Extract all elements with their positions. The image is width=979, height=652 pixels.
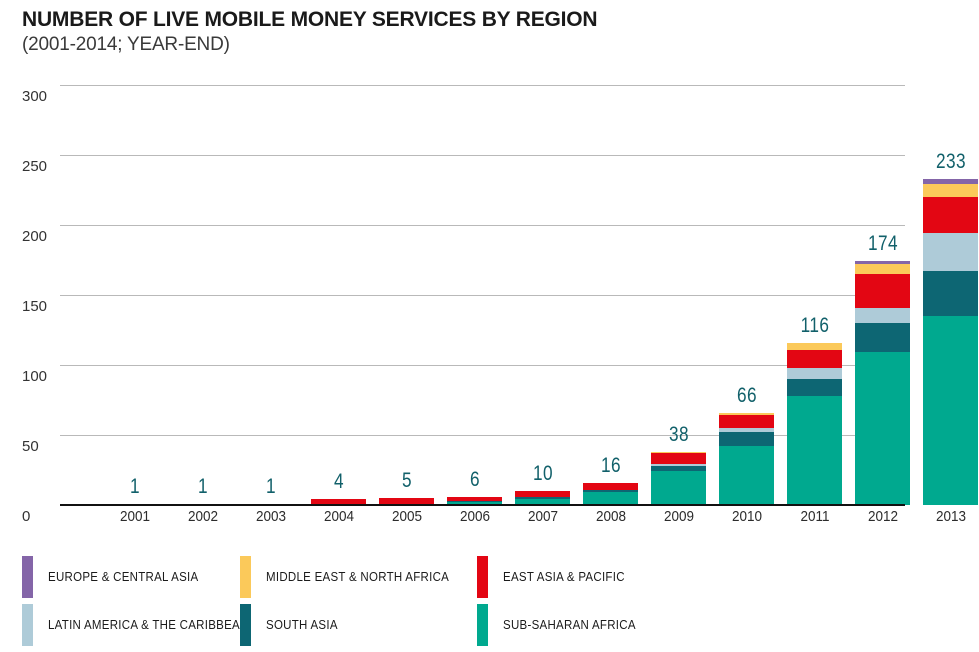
legend-item[interactable]: SOUTH ASIA — [240, 604, 344, 646]
legend-swatch — [22, 604, 33, 646]
y-axis-tick-label: 250 — [22, 158, 47, 175]
bar-2012[interactable] — [855, 261, 910, 505]
gridline — [60, 155, 905, 156]
bar-segment[interactable] — [719, 415, 774, 428]
bar-segment[interactable] — [923, 316, 978, 505]
bar-value-label: 174 — [854, 232, 911, 256]
y-axis-tick-label: 50 — [22, 438, 39, 455]
chart-header: NUMBER OF LIVE MOBILE MONEY SERVICES BY … — [22, 8, 962, 57]
legend-swatch — [22, 556, 33, 598]
x-axis-labels: 2001200220032004200520062007200820092010… — [60, 508, 905, 532]
bar-segment[interactable] — [651, 453, 706, 464]
bar-segment[interactable] — [855, 352, 910, 505]
bar-segment[interactable] — [787, 379, 842, 396]
bar-segment[interactable] — [855, 323, 910, 352]
bar-segment[interactable] — [855, 308, 910, 323]
x-axis-tick-label: 2005 — [375, 508, 438, 525]
bar-2010[interactable] — [719, 413, 774, 505]
bar-segment[interactable] — [719, 446, 774, 505]
legend-label: EUROPE & CENTRAL ASIA — [48, 570, 198, 584]
bar-segment[interactable] — [787, 350, 842, 368]
bar-value-label: 16 — [582, 454, 639, 478]
legend-swatch — [240, 604, 251, 646]
y-axis-labels: 050100150200250300 — [0, 85, 60, 505]
x-axis-tick-label: 2006 — [443, 508, 506, 525]
x-axis-tick-label: 2009 — [647, 508, 710, 525]
x-axis-tick-label: 2010 — [715, 508, 778, 525]
bar-segment[interactable] — [787, 396, 842, 505]
gridline — [60, 85, 905, 86]
legend-label: SUB-SAHARAN AFRICA — [503, 618, 636, 632]
bar-value-label: 1 — [174, 475, 231, 499]
y-axis-tick-label: 300 — [22, 88, 47, 105]
x-axis-tick-label: 2011 — [783, 508, 846, 525]
page-title: NUMBER OF LIVE MOBILE MONEY SERVICES BY … — [22, 8, 962, 32]
legend-swatch — [477, 556, 488, 598]
legend-label: SOUTH ASIA — [266, 618, 338, 632]
bar-2013[interactable] — [923, 179, 978, 505]
y-axis-tick-label: 150 — [22, 298, 47, 315]
legend-swatch — [477, 604, 488, 646]
x-axis-tick-label: 2013 — [919, 508, 979, 525]
page-subtitle: (2001-2014; YEAR-END) — [22, 34, 962, 57]
bar-segment[interactable] — [923, 197, 978, 233]
x-axis-tick-label: 2001 — [103, 508, 166, 525]
bar-value-label: 66 — [718, 384, 775, 408]
bar-segment[interactable] — [787, 343, 842, 350]
bar-value-label: 38 — [650, 423, 707, 447]
legend-item[interactable]: EUROPE & CENTRAL ASIA — [22, 556, 212, 598]
bar-value-label: 4 — [310, 470, 367, 494]
x-axis-tick-label: 2003 — [239, 508, 302, 525]
bar-2008[interactable] — [583, 483, 638, 505]
bar-segment[interactable] — [855, 264, 910, 274]
legend-label: LATIN AMERICA & THE CARIBBEAN — [48, 618, 249, 632]
legend-item[interactable]: EAST ASIA & PACIFIC — [477, 556, 635, 598]
bar-value-label: 10 — [514, 462, 571, 486]
bar-segment[interactable] — [651, 471, 706, 505]
bar-value-label: 233 — [922, 150, 979, 174]
gridline — [60, 365, 905, 366]
gridline — [60, 435, 905, 436]
x-axis-tick-label: 2002 — [171, 508, 234, 525]
axis-baseline — [60, 504, 905, 506]
legend-item[interactable]: SUB-SAHARAN AFRICA — [477, 604, 647, 646]
bar-value-label: 1 — [106, 475, 163, 499]
bar-segment[interactable] — [923, 233, 978, 271]
legend-item[interactable]: MIDDLE EAST & NORTH AFRICA — [240, 556, 465, 598]
bar-2009[interactable] — [651, 452, 706, 505]
legend-swatch — [240, 556, 251, 598]
bar-segment[interactable] — [719, 432, 774, 446]
bar-segment[interactable] — [583, 483, 638, 490]
y-axis-tick-label: 0 — [22, 508, 30, 525]
bar-value-label: 6 — [446, 468, 503, 492]
legend-label: MIDDLE EAST & NORTH AFRICA — [266, 570, 449, 584]
bar-segment[interactable] — [923, 184, 978, 197]
legend-label: EAST ASIA & PACIFIC — [503, 570, 625, 584]
x-axis-tick-label: 2004 — [307, 508, 370, 525]
bar-segment[interactable] — [787, 368, 842, 379]
x-axis-tick-label: 2012 — [851, 508, 914, 525]
bar-2007[interactable] — [515, 491, 570, 505]
chart-legend: EUROPE & CENTRAL ASIAMIDDLE EAST & NORTH… — [22, 556, 962, 646]
bar-segment[interactable] — [855, 274, 910, 308]
gridline — [60, 225, 905, 226]
bar-segment[interactable] — [923, 271, 978, 316]
gridline — [60, 295, 905, 296]
bar-value-label: 1 — [242, 475, 299, 499]
x-axis-tick-label: 2007 — [511, 508, 574, 525]
bar-value-label: 116 — [786, 314, 843, 338]
bar-value-label: 5 — [378, 469, 435, 493]
legend-item[interactable]: LATIN AMERICA & THE CARIBBEAN — [22, 604, 266, 646]
x-axis-tick-label: 2008 — [579, 508, 642, 525]
plot-area: 11145610163866116174233255 — [60, 85, 905, 505]
y-axis-tick-label: 100 — [22, 368, 47, 385]
y-axis-tick-label: 200 — [22, 228, 47, 245]
bar-2011[interactable] — [787, 343, 842, 505]
